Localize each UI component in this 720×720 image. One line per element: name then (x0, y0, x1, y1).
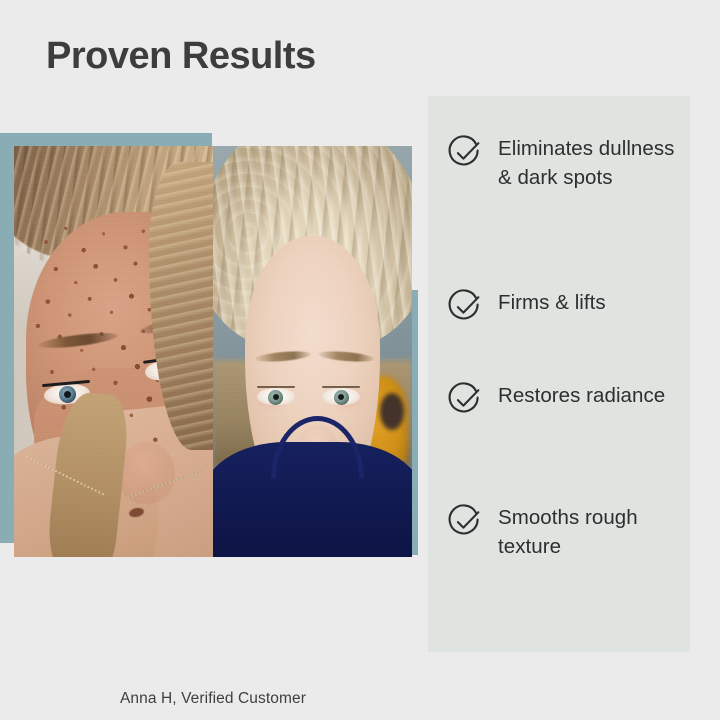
check-circle-icon (446, 381, 484, 419)
check-circle-icon (446, 134, 484, 172)
benefit-item-smooths-rough-texture: Smooths rough texture (446, 501, 686, 561)
benefits-panel: Eliminates dullness & dark spots Firms &… (428, 96, 690, 652)
check-circle-icon (446, 288, 484, 326)
promo-canvas: Proven Results (0, 0, 720, 720)
testimonial-caption: Anna H, Verified Customer (14, 690, 412, 708)
benefit-label: Smooths rough texture (498, 501, 686, 561)
photo-pair (14, 146, 412, 557)
after-eye-left (257, 388, 295, 405)
benefit-label: Firms & lifts (498, 286, 606, 317)
benefit-item-firms-lifts: Firms & lifts (446, 286, 686, 326)
before-photo (14, 146, 213, 557)
page-title: Proven Results (46, 36, 316, 78)
check-circle-icon (446, 503, 484, 541)
benefit-item-restores-radiance: Restores radiance (446, 379, 686, 419)
benefit-label: Restores radiance (498, 379, 665, 410)
before-nose (117, 442, 175, 504)
after-photo (213, 146, 412, 557)
before-iris-left (58, 385, 76, 403)
benefits-list: Eliminates dullness & dark spots Firms &… (428, 96, 690, 652)
after-background-person-head (380, 393, 404, 430)
before-after-comparison: Anna H, Verified Customer (0, 120, 420, 560)
after-iris-left (268, 390, 283, 405)
benefit-label: Eliminates dullness & dark spots (498, 132, 686, 192)
after-iris-right (334, 390, 349, 405)
benefit-item-eliminates-dullness-dark-spots: Eliminates dullness & dark spots (446, 132, 686, 192)
